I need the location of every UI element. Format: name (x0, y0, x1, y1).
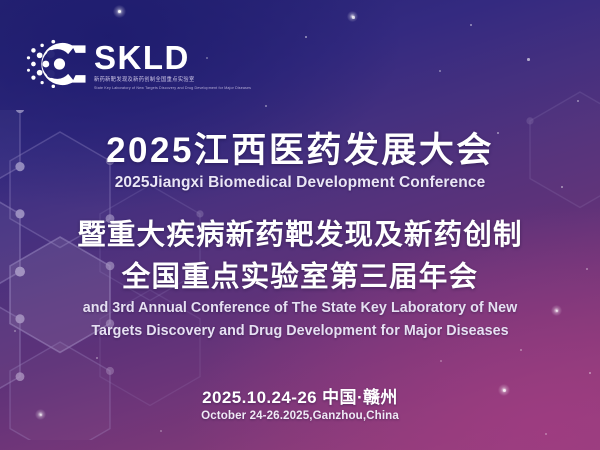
subtitle-english-line-2: Targets Discovery and Drug Development f… (0, 320, 600, 343)
event-date-location-english: October 24-26.2025,Ganzhou,China (0, 409, 600, 422)
skld-logo: SKLD 新药新靶发现及新药创制全国重点实验室 State Key Labora… (26, 33, 251, 95)
logo-chinese-name: 新药新靶发现及新药创制全国重点实验室 (94, 77, 251, 85)
event-date-location-chinese: 2025.10.24-26 中国·赣州 (0, 383, 600, 408)
logo-text-block: SKLD 新药新靶发现及新药创制全国重点实验室 State Key Labora… (94, 37, 251, 92)
subtitle-chinese-line-2: 全国重点实验室第三届年会 (0, 254, 600, 295)
page-title: 2025江西医药发展大会 (0, 131, 600, 170)
page-title-english: 2025Jiangxi Biomedical Development Confe… (0, 174, 600, 192)
logo-english-name: State Key Laboratory of New Targets Disc… (94, 86, 251, 91)
skld-molecular-c-logo-icon (26, 33, 88, 95)
subtitle-chinese-line-1: 暨重大疾病新药靶发现及新药创制 (0, 212, 600, 253)
conference-poster: SKLD 新药新靶发现及新药创制全国重点实验室 State Key Labora… (0, 0, 600, 450)
logo-acronym: SKLD (94, 41, 251, 74)
subtitle-english-line-1: and 3rd Annual Conference of The State K… (0, 297, 600, 320)
subtitle-english: and 3rd Annual Conference of The State K… (0, 297, 600, 343)
